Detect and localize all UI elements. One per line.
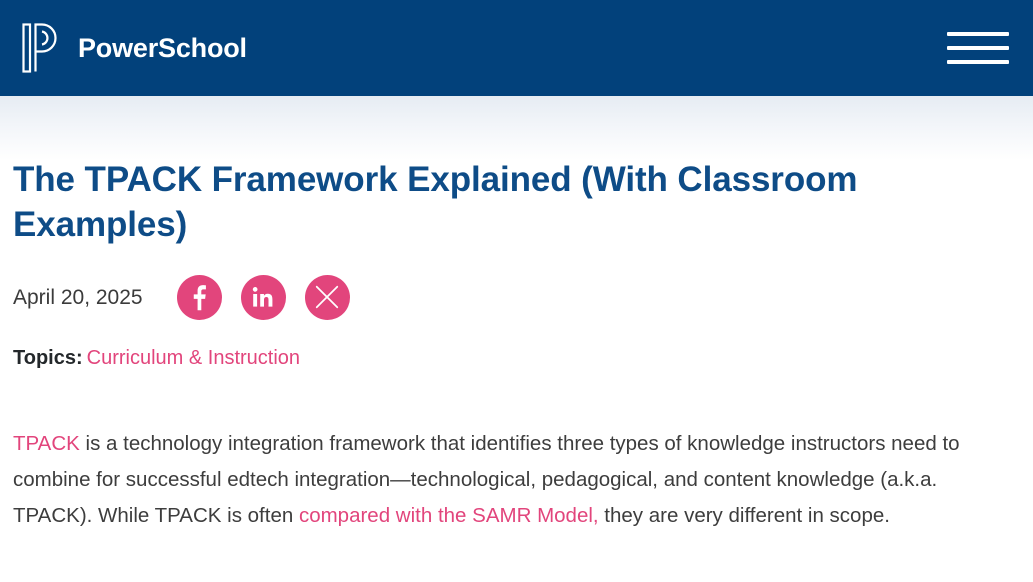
- linkedin-icon: [251, 285, 275, 309]
- brand-home-link[interactable]: PowerSchool: [22, 23, 247, 73]
- share-facebook-button[interactable]: [177, 275, 222, 320]
- site-header: PowerSchool: [0, 0, 1033, 96]
- topic-link-curriculum-instruction[interactable]: Curriculum & Instruction: [87, 347, 300, 369]
- page-title: The TPACK Framework Explained (With Clas…: [13, 158, 893, 248]
- article-content: The TPACK Framework Explained (With Clas…: [0, 158, 1033, 534]
- article-meta-row: April 20, 2025: [13, 275, 1019, 320]
- post-date: April 20, 2025: [13, 287, 143, 308]
- facebook-icon: [186, 284, 213, 311]
- x-twitter-icon: [313, 283, 341, 311]
- share-x-twitter-button[interactable]: [305, 275, 350, 320]
- powerschool-p-logo-icon: [22, 23, 64, 73]
- article-body-paragraph: TPACK is a technology integration framew…: [13, 426, 1019, 534]
- body-link-samr-model[interactable]: compared with the SAMR Model,: [299, 504, 599, 527]
- topics-row: Topics:Curriculum & Instruction: [13, 346, 1019, 370]
- menu-bar-middle: [947, 46, 1009, 50]
- body-text-segment-2: they are very different in scope.: [599, 504, 890, 527]
- menu-bar-top: [947, 32, 1009, 36]
- menu-bar-bottom: [947, 60, 1009, 64]
- header-gradient-strip: [0, 96, 1033, 160]
- topics-label: Topics:: [13, 347, 83, 369]
- brand-name: PowerSchool: [78, 35, 247, 62]
- hamburger-menu-icon[interactable]: [947, 25, 1009, 71]
- share-linkedin-button[interactable]: [241, 275, 286, 320]
- body-link-tpack[interactable]: TPACK: [13, 432, 80, 455]
- social-share-list: [177, 275, 350, 320]
